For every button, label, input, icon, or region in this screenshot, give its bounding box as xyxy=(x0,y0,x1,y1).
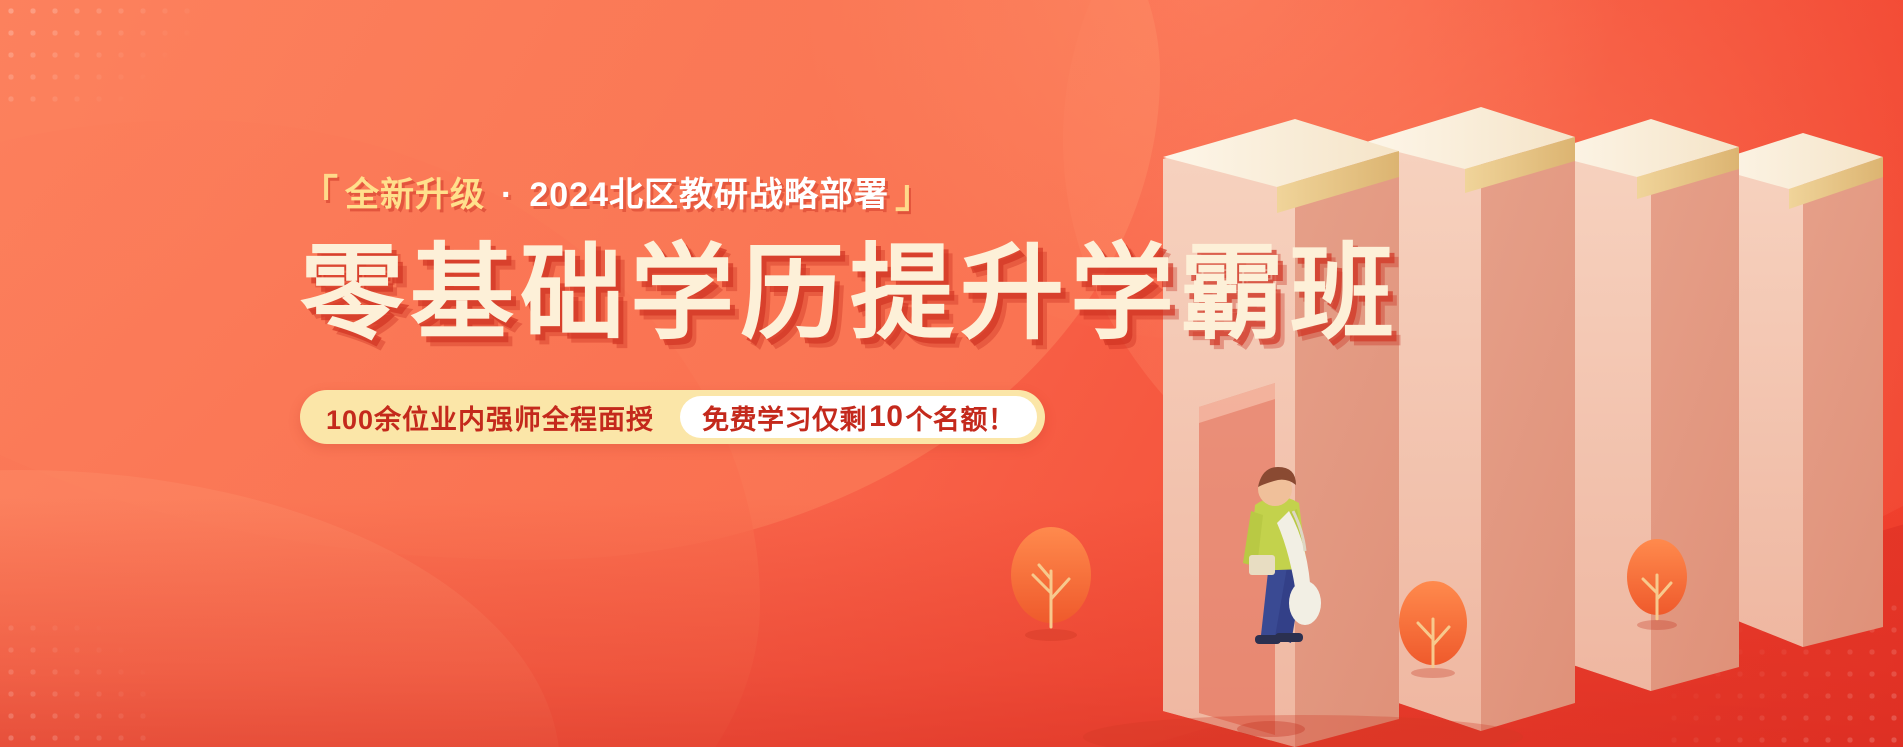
badge-right-capsule: 免费学习仅剩 10 个名额！ xyxy=(680,396,1037,438)
copy-block: 「 全新升级 · 2024北区教研战略部署 」 零基础学历提升学霸班 100余位… xyxy=(300,176,1300,444)
page-title: 零基础学历提升学霸班 xyxy=(300,242,1300,346)
tree-left xyxy=(1011,527,1091,641)
kicker-separator: · xyxy=(491,178,523,212)
badge-remaining-count: 10 xyxy=(867,400,905,434)
open-bracket: 「 xyxy=(300,176,339,214)
badge-right-prefix: 免费学习仅剩 xyxy=(702,398,867,437)
promo-badge: 100余位业内强师全程面授 免费学习仅剩 10 个名额！ xyxy=(300,390,1045,444)
close-bracket: 」 xyxy=(895,176,934,214)
kicker-line: 「 全新升级 · 2024北区教研战略部署 」 xyxy=(300,176,1300,214)
promo-banner: 「 全新升级 · 2024北区教研战略部署 」 零基础学历提升学霸班 100余位… xyxy=(0,0,1903,747)
badge-right-suffix: 个名额！ xyxy=(905,398,1015,437)
badge-left-text: 100余位业内强师全程面授 xyxy=(326,398,680,437)
kicker-rest: 2024北区教研战略部署 xyxy=(529,178,889,212)
kicker-highlight: 全新升级 xyxy=(345,178,485,212)
